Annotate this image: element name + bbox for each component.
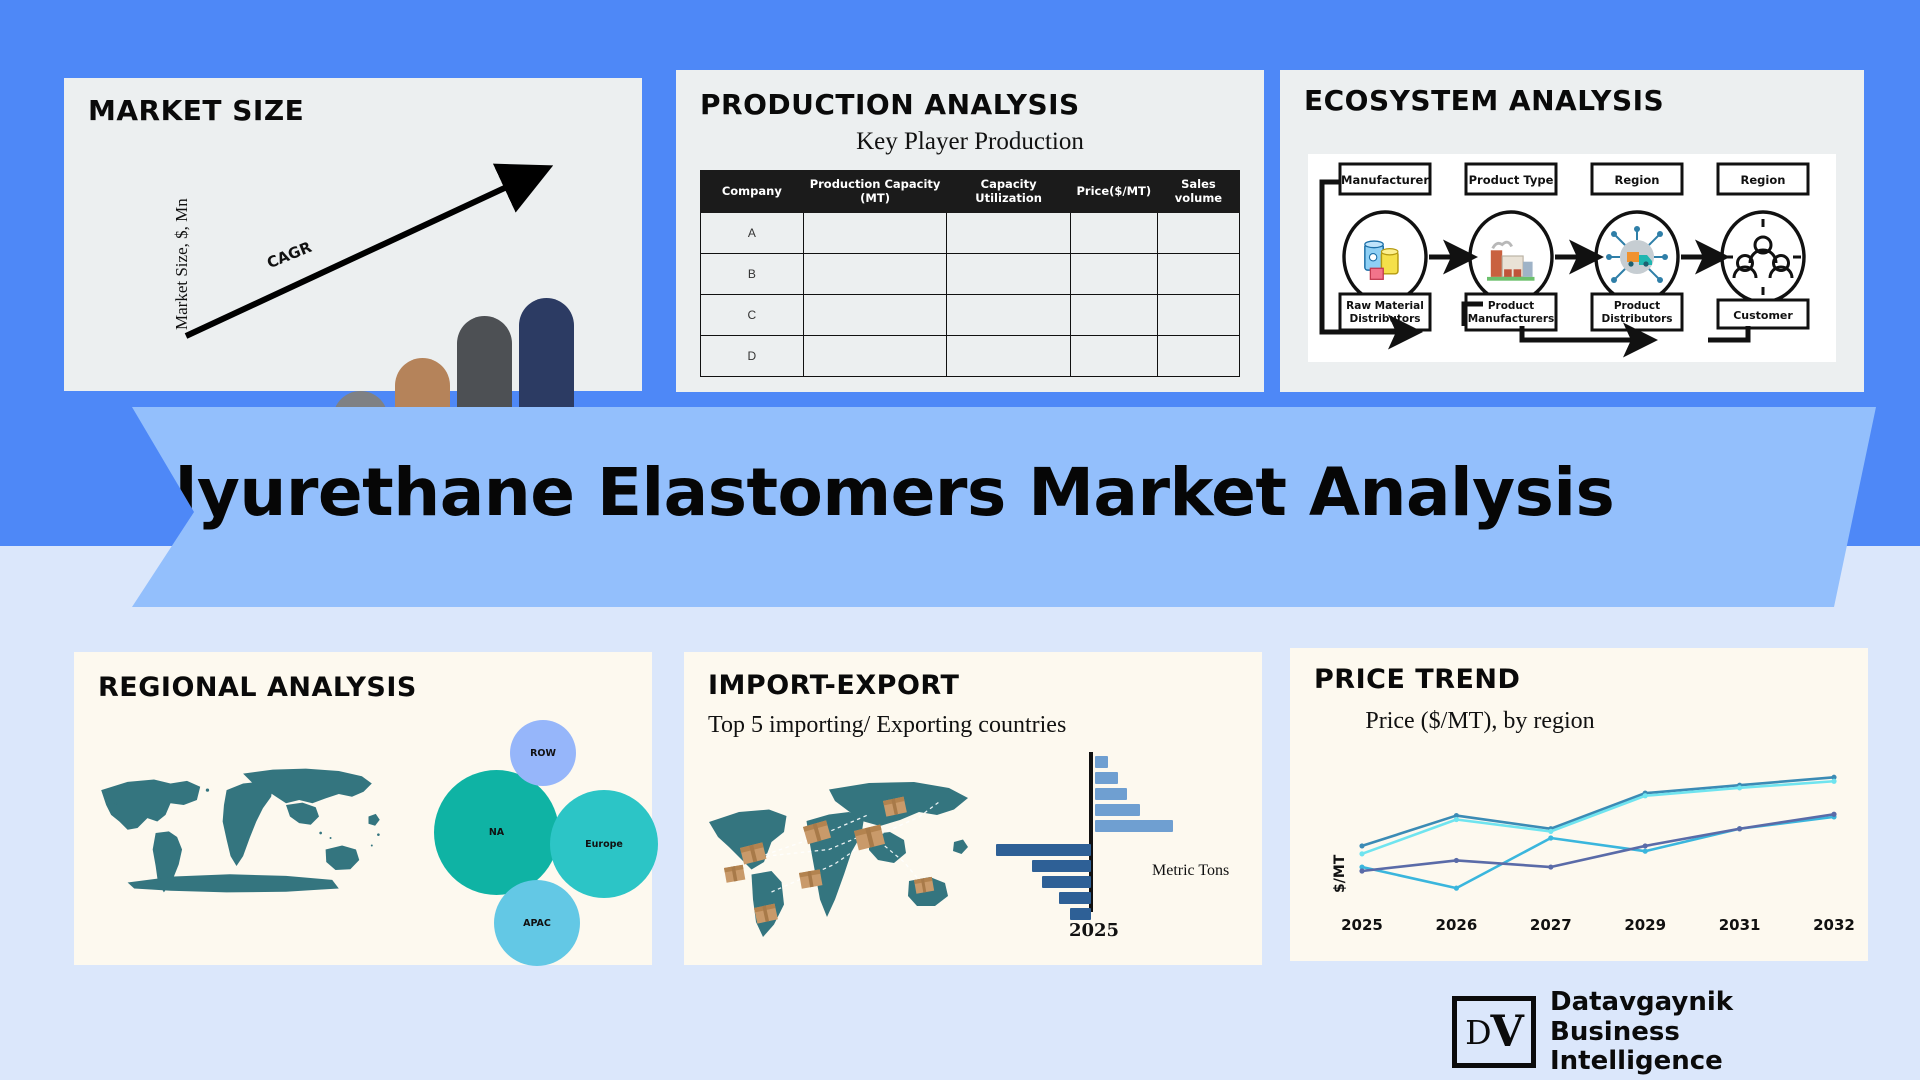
svg-text:Region: Region (1615, 173, 1660, 187)
ecosystem-box-bottom: Raw MaterialDistributors (1340, 294, 1430, 330)
price-trend-point (1737, 826, 1742, 831)
regional-title: REGIONAL ANALYSIS (98, 672, 417, 703)
price-trend-x-tick: 2026 (1426, 916, 1486, 934)
ecosystem-bottom-boxes: Raw MaterialDistributorsProductManufactu… (1340, 294, 1808, 330)
production-analysis-panel: PRODUCTION ANALYSIS Key Player Productio… (676, 70, 1264, 392)
price-trend-point (1548, 864, 1553, 869)
logo-letter-d: D (1465, 1013, 1490, 1052)
price-trend-point (1454, 886, 1459, 891)
table-cell (803, 294, 947, 335)
ecosystem-flow-svg: ManufacturerProduct TypeRegionRegion Raw… (1308, 154, 1836, 362)
table-column-header: Production Capacity(MT) (803, 171, 947, 213)
price-trend-subtitle: Price ($/MT), by region (1350, 706, 1610, 736)
logo-company-name: Datavgaynik Business Intelligence (1550, 988, 1850, 1077)
table-body: ABCD (701, 212, 1240, 376)
main-banner: Polyurethane Elastomers Market Analysis (44, 407, 1876, 607)
price-trend-x-axis: 202520262027202920312032 (1348, 916, 1848, 938)
tornado-bar-export (1095, 756, 1108, 768)
tornado-bar-import (996, 844, 1091, 856)
tornado-unit-label: Metric Tons (1152, 862, 1229, 880)
table-cell-company: A (701, 212, 804, 253)
import-export-tornado-chart: 2025 Metric Tons (1014, 752, 1244, 942)
svg-text:Manufacturer: Manufacturer (1341, 173, 1429, 187)
price-trend-y-axis-label: $/MT (1332, 855, 1348, 893)
svg-text:Distributors: Distributors (1349, 313, 1420, 325)
price-trend-title: PRICE TREND (1314, 664, 1520, 695)
ecosystem-box-top: Region (1592, 164, 1682, 194)
tornado-year-label: 2025 (1054, 920, 1134, 941)
regional-bubble-chart: NAEuropeAPACROW (434, 712, 644, 952)
table-cell (803, 253, 947, 294)
world-map-svg (88, 718, 418, 948)
table-cell (1157, 253, 1239, 294)
table-column-header: Sales volume (1157, 171, 1239, 213)
region-bubble-row: ROW (510, 720, 576, 786)
price-trend-point (1831, 779, 1836, 784)
regional-analysis-panel: REGIONAL ANALYSIS NAEuropeAPACROW (74, 652, 652, 965)
table-cell (947, 294, 1070, 335)
table-row: C (701, 294, 1240, 335)
table-cell (1157, 212, 1239, 253)
price-trend-x-tick: 2029 (1615, 916, 1675, 934)
table-cell (947, 212, 1070, 253)
price-trend-point (1643, 849, 1648, 854)
price-trend-point (1454, 817, 1459, 822)
tornado-bar-import (1042, 876, 1091, 888)
table-row: A (701, 212, 1240, 253)
table-cell (947, 335, 1070, 376)
table-cell (1070, 253, 1157, 294)
tornado-bar-import (1032, 860, 1091, 872)
ecosystem-node-factory-icon (1470, 212, 1552, 302)
table-row: B (701, 253, 1240, 294)
logo-mark-dv: DV (1452, 996, 1536, 1068)
trade-map-svg (704, 762, 984, 942)
table-cell (1070, 335, 1157, 376)
svg-text:Product: Product (1614, 300, 1660, 312)
tornado-bar-export (1095, 772, 1118, 784)
tornado-bar-export (1095, 820, 1173, 832)
price-trend-point (1831, 812, 1836, 817)
world-map-regional (88, 718, 418, 948)
table-header-row: CompanyProduction Capacity(MT)Capacity U… (701, 171, 1240, 213)
tornado-bar-export (1095, 788, 1127, 800)
price-trend-panel: PRICE TREND Price ($/MT), by region $/MT… (1290, 648, 1868, 961)
market-size-chart: Market Size, $, Mn CAGR 2025202620272029… (64, 138, 642, 391)
svg-text:Manufacturers: Manufacturers (1468, 313, 1555, 325)
production-subtitle: Key Player Production (676, 128, 1264, 156)
price-trend-x-tick: 2027 (1521, 916, 1581, 934)
tornado-bar-import (1070, 908, 1091, 920)
logo-letter-v: V (1491, 1007, 1523, 1057)
market-size-panel: MARKET SIZE Market Size, $, Mn CAGR 2025… (64, 78, 642, 391)
table-cell-company: C (701, 294, 804, 335)
price-trend-line (1362, 781, 1834, 854)
table-column-header: Capacity Utilization (947, 171, 1070, 213)
price-trend-point (1359, 868, 1364, 873)
svg-text:Product: Product (1488, 300, 1534, 312)
price-trend-point (1643, 793, 1648, 798)
ecosystem-title: ECOSYSTEM ANALYSIS (1304, 84, 1664, 117)
import-export-title: IMPORT-EXPORT (708, 670, 959, 701)
table-cell (803, 335, 947, 376)
tornado-bar-export (1095, 804, 1140, 816)
ecosystem-node-customers-icon (1722, 212, 1804, 302)
ecosystem-box-top: Manufacturer (1340, 164, 1430, 194)
ecosystem-analysis-panel: ECOSYSTEM ANALYSIS ManufacturerProduct T… (1280, 70, 1864, 392)
price-trend-point (1643, 843, 1648, 848)
svg-text:Distributors: Distributors (1601, 313, 1672, 325)
ecosystem-box-bottom: Customer (1718, 300, 1808, 328)
table-column-header: Company (701, 171, 804, 213)
key-player-production-table: CompanyProduction Capacity(MT)Capacity U… (700, 170, 1240, 377)
table-column-header: Price($/MT) (1070, 171, 1157, 213)
svg-text:Customer: Customer (1733, 309, 1793, 322)
region-bubble-na: NA (434, 770, 559, 895)
svg-text:Region: Region (1741, 173, 1786, 187)
table-cell-company: B (701, 253, 804, 294)
tornado-bar-import (1059, 892, 1091, 904)
price-trend-point (1359, 843, 1364, 848)
table-cell-company: D (701, 335, 804, 376)
table-cell (1157, 294, 1239, 335)
region-bubble-europe: Europe (550, 790, 658, 898)
svg-text:Product Type: Product Type (1469, 173, 1554, 187)
price-trend-point (1359, 851, 1364, 856)
table-row: D (701, 335, 1240, 376)
trade-flow-map (704, 762, 984, 942)
ecosystem-box-bottom: ProductManufacturers (1466, 294, 1556, 330)
ecosystem-node-distribution-network-icon (1596, 212, 1678, 302)
price-trend-x-tick: 2025 (1332, 916, 1392, 934)
table-cell (1070, 294, 1157, 335)
ecosystem-box-top: Region (1718, 164, 1808, 194)
svg-text:Raw Material: Raw Material (1346, 300, 1424, 312)
price-trend-point (1548, 829, 1553, 834)
table-cell (1157, 335, 1239, 376)
table-cell (947, 253, 1070, 294)
ecosystem-node-barrels-icon (1344, 212, 1426, 302)
tornado-center-axis (1089, 752, 1093, 912)
price-trend-line (1362, 777, 1834, 846)
market-size-title: MARKET SIZE (88, 94, 304, 127)
page-title: Polyurethane Elastomers Market Analysis (82, 454, 1614, 531)
price-trend-point (1454, 858, 1459, 863)
ecosystem-diagram: ManufacturerProduct TypeRegionRegion Raw… (1308, 154, 1836, 362)
ecosystem-box-bottom: ProductDistributors (1592, 294, 1682, 330)
ecosystem-box-top: Product Type (1466, 164, 1556, 194)
price-trend-x-tick: 2032 (1804, 916, 1864, 934)
brand-logo: DV Datavgaynik Business Intelligence (1452, 988, 1850, 1077)
import-export-panel: IMPORT-EXPORT Top 5 importing/ Exporting… (684, 652, 1262, 965)
price-trend-point (1548, 835, 1553, 840)
region-bubble-apac: APAC (494, 880, 580, 966)
price-trend-x-tick: 2031 (1710, 916, 1770, 934)
price-trend-lines (1348, 768, 1848, 908)
import-export-subtitle: Top 5 importing/ Exporting countries (708, 712, 1208, 739)
production-title: PRODUCTION ANALYSIS (700, 88, 1080, 121)
price-trend-point (1737, 785, 1742, 790)
table-cell (1070, 212, 1157, 253)
table-cell (803, 212, 947, 253)
ecosystem-top-boxes: ManufacturerProduct TypeRegionRegion (1340, 164, 1808, 194)
